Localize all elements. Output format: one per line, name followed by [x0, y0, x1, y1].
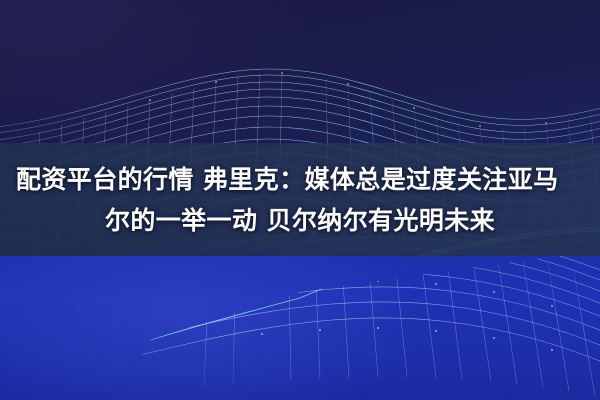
headline-line-2: 尔的一举一动 贝尔纳尔有光明未来 [105, 200, 495, 241]
headline-line-1: 配资平台的行情 弗里克：媒体总是过度关注亚马 [8, 159, 559, 200]
headline-block: 配资平台的行情 弗里克：媒体总是过度关注亚马 尔的一举一动 贝尔纳尔有光明未来 [0, 143, 600, 256]
article-banner: 配资平台的行情 弗里克：媒体总是过度关注亚马 尔的一举一动 贝尔纳尔有光明未来 [0, 0, 600, 400]
